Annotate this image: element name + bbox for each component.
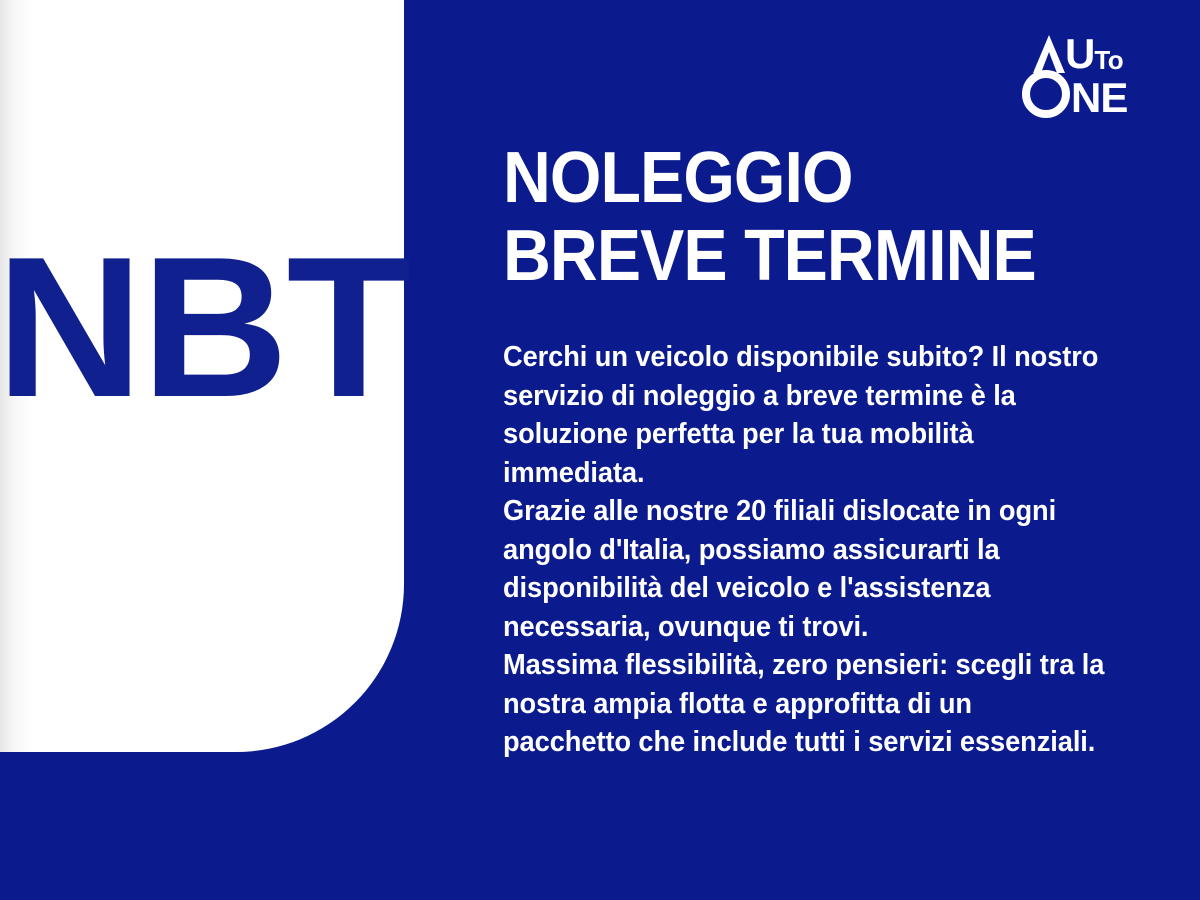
- logo-letter-u: U: [1065, 34, 1094, 74]
- page-title: NOLEGGIO BREVE TERMINE: [503, 139, 1110, 295]
- logo-ring-o-icon: [1022, 70, 1070, 118]
- left-white-panel: NBT: [0, 0, 404, 752]
- logo-text-ne: NE: [1071, 78, 1127, 118]
- logo-line-auto: U To: [1032, 34, 1123, 74]
- body-paragraph-1: Cerchi un veicolo disponibile subito? Il…: [503, 338, 1105, 492]
- autoone-logo: U To NE: [1022, 34, 1172, 122]
- monogram-container: NBT: [0, 236, 380, 420]
- body-paragraph-3: Massima flessibilità, zero pensieri: sce…: [503, 646, 1105, 762]
- body-copy: Cerchi un veicolo disponibile subito? Il…: [503, 338, 1105, 762]
- body-paragraph-2: Grazie alle nostre 20 filiali dislocate …: [503, 492, 1105, 646]
- logo-triangle-a-icon: [1032, 34, 1066, 74]
- headline-line-2: BREVE TERMINE: [503, 217, 1110, 295]
- logo-line-one: NE: [1022, 70, 1127, 118]
- headline-line-1: NOLEGGIO: [503, 139, 1110, 217]
- nbt-monogram: NBT: [0, 236, 409, 420]
- promo-slide: NBT U To NE NOLEGGIO BREVE TERMINE Cerch…: [0, 0, 1200, 900]
